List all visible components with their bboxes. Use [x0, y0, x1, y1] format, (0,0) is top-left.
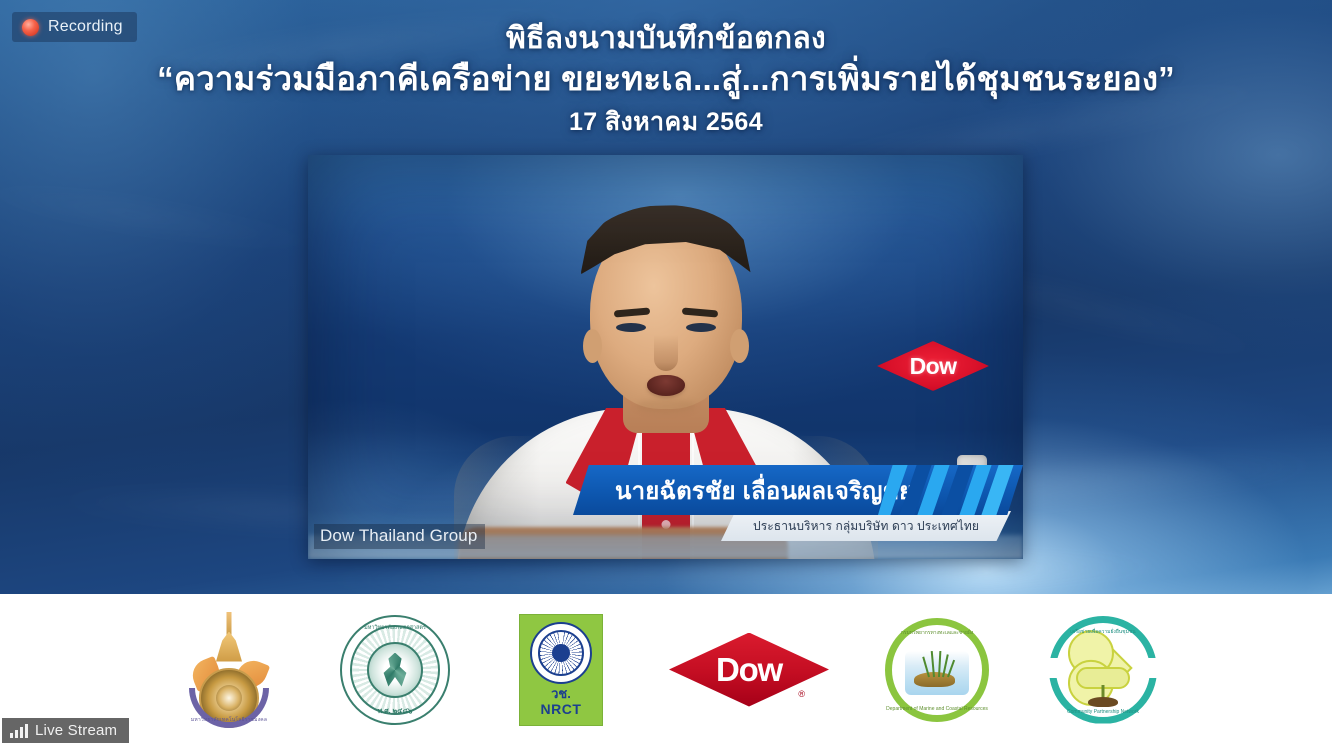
ring-gap-right — [1142, 658, 1160, 678]
nrct-label-thai: วช. — [551, 687, 571, 701]
nrct-emblem — [530, 622, 592, 684]
handshake-caption-top: เครือข่ายเพื่อความยั่งยืนชุมชน — [1070, 628, 1135, 636]
ring-gap-left — [1046, 658, 1064, 678]
nrct-hub — [552, 644, 570, 662]
title-line-1: พิธีลงนามบันทึกข้อตกลง — [0, 20, 1332, 58]
lower-third-name-bar: นายฉัตรชัย เลื่อนผลเจริญชัย — [573, 465, 1023, 515]
dow-logo-text: Dow — [877, 341, 989, 391]
logo-rajamangala-seal: มหาวิทยาลัยเทคโนโลยีราชมงคล — [146, 605, 312, 735]
mangrove-scene — [905, 651, 969, 695]
nrct-label-english: NRCT — [541, 701, 582, 717]
dow-wordmark: Dow — [669, 633, 829, 707]
seal-figure — [380, 653, 410, 687]
lower-third-banner: ประธานบริหาร กลุ่มบริษัท ดาว ประเทศไทย น… — [573, 465, 1023, 555]
signal-bars-icon — [10, 724, 28, 738]
lower-third-role: ประธานบริหาร กลุ่มบริษัท ดาว ประเทศไทย — [753, 517, 979, 536]
university-seal-icon: มหาวิทยาลัยเกษตรศาสตร์ พ.ศ. ๒๔๘๖ — [340, 615, 450, 725]
participant-name-label: Dow Thailand Group — [314, 524, 485, 549]
logo-dow: Dow ® — [644, 605, 854, 735]
seal-caption-year: พ.ศ. ๒๔๘๖ — [378, 706, 413, 717]
video-participant-tile[interactable]: Dow ประธานบริหาร กลุ่มบริษัท ดาว ประเทศไ… — [308, 155, 1023, 559]
logo-nrct: วช. NRCT — [478, 605, 644, 735]
dow-diamond-icon: Dow ® — [669, 633, 829, 707]
lower-third-name: นายฉัตรชัย เลื่อนผลเจริญชัย — [615, 471, 913, 510]
partner-logo-strip: มหาวิทยาลัยเทคโนโลยีราชมงคล มหาวิทยาลัยเ… — [0, 594, 1332, 745]
handshake-heart-icon: เครือข่ายเพื่อความยั่งยืนชุมชน Community… — [1049, 616, 1157, 724]
light-wisp — [0, 177, 359, 258]
event-title-block: พิธีลงนามบันทึกข้อตกลง “ความร่วมมือภาคีเ… — [0, 20, 1332, 139]
banner-stripes-decor — [878, 465, 1023, 515]
title-line-2: “ความร่วมมือภาคีเครือข่าย ขยะทะเล...สู่.… — [0, 57, 1332, 101]
seal-core — [367, 642, 423, 698]
dow-logo-overlay: Dow — [877, 341, 989, 391]
mangrove-caption-bottom: Department of Marine and Coastal Resourc… — [886, 706, 988, 712]
logo-mangrove-conservation: กรมทรัพยากรทางทะเลและชายฝั่ง Department … — [854, 605, 1020, 735]
soil-mound — [1088, 697, 1118, 707]
logo-community-partnership: เครือข่ายเพื่อความยั่งยืนชุมชน Community… — [1020, 605, 1186, 735]
live-stream-label: Live Stream — [35, 722, 117, 739]
logo-kasetsart-university: มหาวิทยาลัยเกษตรศาสตร์ พ.ศ. ๒๔๘๖ — [312, 605, 478, 735]
registered-trademark-symbol: ® — [798, 689, 805, 699]
meeting-stage: Recording พิธีลงนามบันทึกข้อตกลง “ความร่… — [0, 0, 1332, 745]
seal-caption: มหาวิทยาลัยเทคโนโลยีราชมงคล — [191, 716, 267, 724]
mangrove-circle-icon: กรมทรัพยากรทางทะเลและชายฝั่ง Department … — [885, 618, 989, 722]
event-date: 17 สิงหาคม 2564 — [0, 105, 1332, 139]
handshake-caption-bottom: Community Partnership Network — [1067, 709, 1139, 715]
nrct-logo-icon: วช. NRCT — [519, 614, 603, 726]
mangrove-caption-top: กรมทรัพยากรทางทะเลและชายฝั่ง — [901, 629, 974, 637]
seal-caption-top: มหาวิทยาลัยเกษตรศาสตร์ — [364, 624, 426, 632]
royal-seal-icon: มหาวิทยาลัยเทคโนโลยีราชมงคล — [186, 612, 272, 728]
lower-third-role-bar: ประธานบริหาร กลุ่มบริษัท ดาว ประเทศไทย — [721, 511, 1011, 541]
live-stream-indicator[interactable]: Live Stream — [2, 718, 129, 743]
